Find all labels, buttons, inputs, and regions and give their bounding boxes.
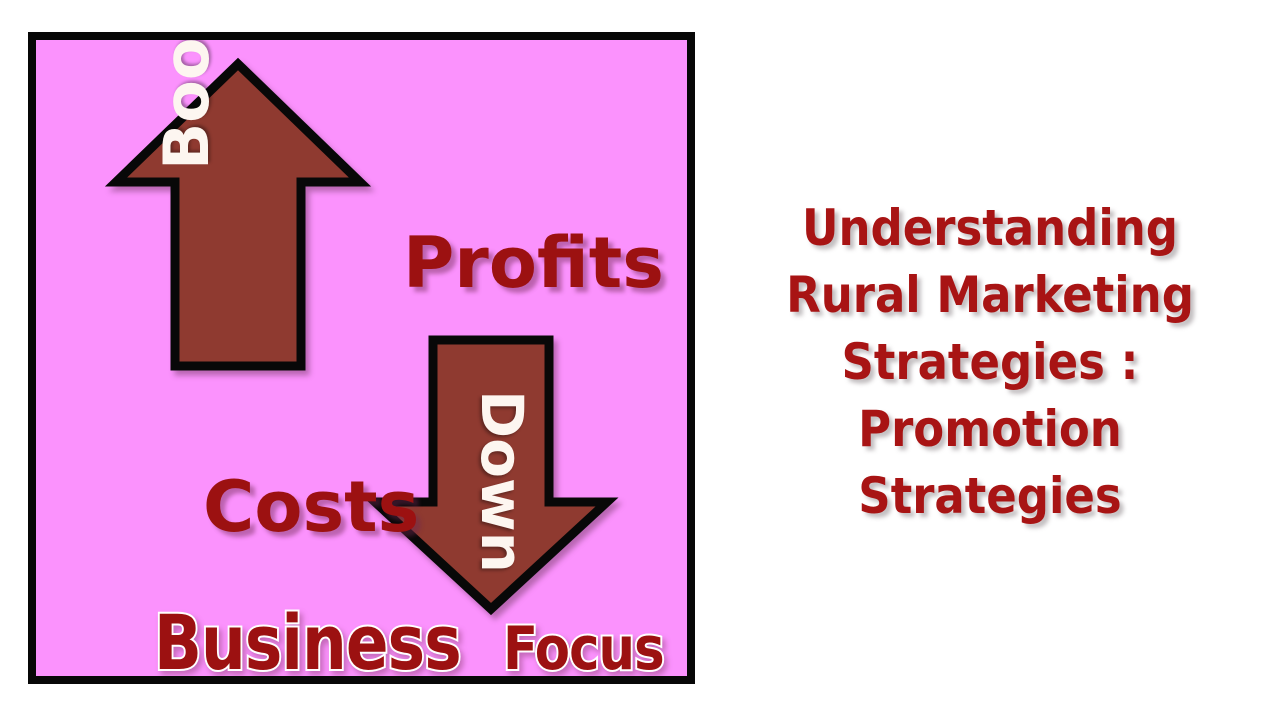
- title-line-2: Rural Marketing: [786, 262, 1194, 329]
- focus-word: Focus: [503, 619, 664, 679]
- page-title: Understanding Rural Marketing Strategies…: [700, 0, 1280, 720]
- costs-label: Costs: [203, 472, 419, 542]
- arrow-down-label: Down: [473, 390, 531, 573]
- title-line-4: Promotion: [858, 396, 1122, 463]
- slide-canvas: Boost Down Profits Costs Business Focus …: [0, 0, 1280, 720]
- business-focus-lockup: Business Focus: [154, 605, 673, 681]
- title-line-5: Strategies: [858, 463, 1121, 530]
- business-focus-graphic-panel: Boost Down Profits Costs Business Focus: [28, 32, 695, 684]
- title-line-3: Strategies :: [841, 329, 1138, 396]
- title-line-1: Understanding: [802, 195, 1178, 262]
- business-word: Business: [154, 605, 461, 681]
- arrow-up-label: Boost: [156, 32, 218, 170]
- arrow-up-icon: [108, 54, 368, 374]
- profits-label: Profits: [403, 228, 664, 298]
